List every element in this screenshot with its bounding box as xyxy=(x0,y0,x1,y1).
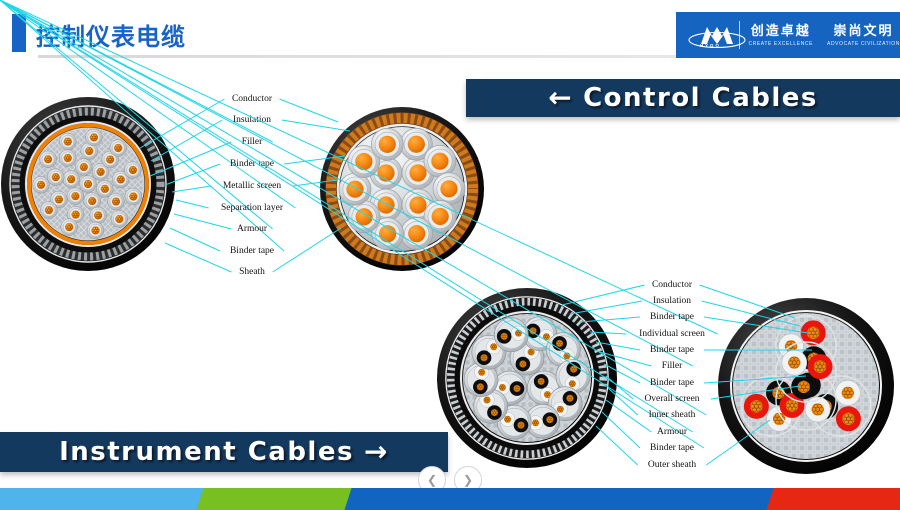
control-label-9: Sheath xyxy=(239,267,265,277)
control-label-3: Filler xyxy=(242,137,263,147)
footer-color-bar xyxy=(0,488,900,510)
control-label-2: Insulation xyxy=(233,115,271,125)
footer-segment-light-blue xyxy=(0,488,206,510)
instrument-label-8: Overall screen xyxy=(644,394,699,404)
right-arrow-icon: → xyxy=(364,438,389,466)
header-accent-bar xyxy=(12,14,26,52)
instrument-label-4: Individual screen xyxy=(639,329,705,339)
logo-slogan-2-en: ADVOCATE CIVILIZATION xyxy=(827,41,900,47)
control-label-6: Separation layer xyxy=(221,203,283,213)
control-label-5: Metallic screen xyxy=(223,181,281,191)
control-cables-banner: ← Control Cables xyxy=(466,79,900,117)
control-cable-multicore-diagram xyxy=(0,86,182,282)
instrument-label-2: Insulation xyxy=(653,296,691,306)
control-cable-14core-diagram xyxy=(318,98,486,280)
instrument-label-1: Conductor xyxy=(652,280,692,290)
page-title: 控制仪表电缆 xyxy=(36,17,186,52)
instrument-label-6: Filler xyxy=(662,361,683,371)
instrument-cable-pairs-diagram xyxy=(436,282,622,478)
left-arrow-icon: ← xyxy=(548,84,573,112)
logo-slogan-1-cn: 创造卓越 xyxy=(751,24,811,39)
instrument-label-12: Outer sheath xyxy=(648,460,696,470)
control-label-1: Conductor xyxy=(232,94,272,104)
instrument-cables-banner: Instrument Cables → xyxy=(0,432,448,472)
control-label-8: Binder tape xyxy=(230,246,274,256)
footer-segment-green xyxy=(196,488,353,510)
instrument-label-3: Binder tape xyxy=(650,312,694,322)
instrument-label-11: Binder tape xyxy=(650,443,694,453)
instrument-label-9: Inner sheath xyxy=(649,410,696,420)
instrument-label-10: Armour xyxy=(657,427,687,437)
logo-mark: HYDO xyxy=(684,18,737,52)
logo-slogan-1-en: CREATE EXCELLENCE xyxy=(748,41,813,47)
control-cables-banner-label: Control Cables xyxy=(583,83,818,113)
instrument-cable-triads-diagram xyxy=(718,292,900,482)
footer-segment-red xyxy=(766,488,900,510)
control-label-7: Armour xyxy=(237,224,267,234)
control-label-4: Binder tape xyxy=(230,159,274,169)
logo-m-icon xyxy=(687,23,733,43)
instrument-cables-banner-label: Instrument Cables xyxy=(59,437,354,467)
instrument-label-7: Binder tape xyxy=(650,378,694,388)
instrument-label-5: Binder tape xyxy=(650,345,694,355)
company-logo: HYDO 创造卓越 CREATE EXCELLENCE 崇尚文明 ADVOCAT… xyxy=(676,12,900,58)
logo-slogan-2-cn: 崇尚文明 xyxy=(834,24,894,39)
slide-page: 控制仪表电缆 HYDO 创造卓越 CREATE EXCELLENCE 崇尚文明 … xyxy=(0,0,900,510)
